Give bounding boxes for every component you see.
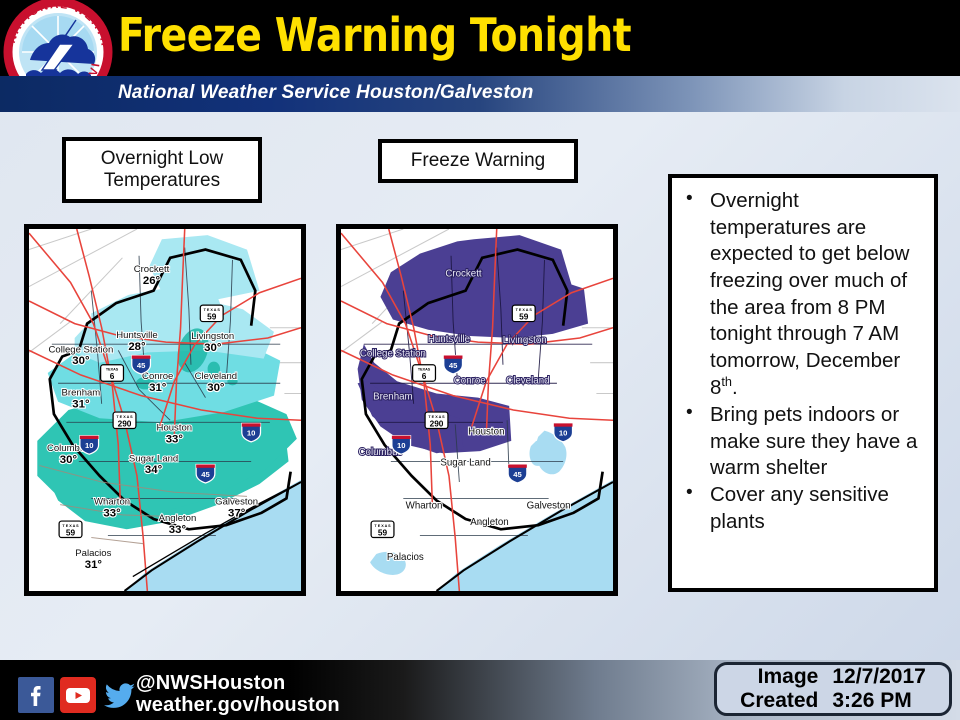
stamp-label-line1: Image [740,665,818,689]
left-map-caption-text: Overnight Low Temperatures [66,148,258,193]
highway-shield-59: T E X A S59 [59,521,82,537]
ordinal-suffix: th [721,374,732,389]
city-label-brenham: Brenham [373,392,413,403]
right-map-caption-text: Freeze Warning [411,150,545,172]
svg-text:30°: 30° [60,454,78,466]
svg-text:Cleveland: Cleveland [506,375,549,386]
highway-shield-10: 10 [554,423,573,442]
city-label-angleton: Angleton [470,517,508,528]
website-url: weather.gov/houston [136,694,340,716]
svg-text:Huntsville: Huntsville [428,334,470,345]
youtube-icon[interactable] [60,677,96,713]
svg-text:Cleveland: Cleveland [195,371,237,382]
svg-text:Angleton: Angleton [159,513,197,524]
city-label-conroe: Conroe [454,375,486,386]
svg-text:T E X A S: T E X A S [116,415,133,419]
svg-text:T E X A S: T E X A S [204,308,221,312]
highway-shield-45: 45 [444,355,463,374]
page-title: Freeze Warning Tonight [118,8,631,62]
city-label-galveston: Galveston [527,501,571,512]
highway-shield-59: T E X A S59 [200,305,223,321]
svg-text:10: 10 [559,429,568,438]
svg-text:10: 10 [85,441,94,450]
overnight-low-temperature-map[interactable]: Crockett26°Huntsville28°Livingston30°Col… [24,224,306,596]
svg-text:30°: 30° [204,342,222,354]
social-handle-block: @NWSHouston weather.gov/houston [136,672,340,717]
advisory-bullet-1: Overnight temperatures are expected to g… [702,188,922,402]
svg-text:Houston: Houston [468,427,504,438]
highway-shield-290: T E X A S290 [113,412,136,428]
city-label-wharton: Wharton [406,501,443,512]
city-label-sugar-land: Sugar Land [440,458,490,469]
city-label-houston: Houston [468,427,504,438]
svg-text:Conroe: Conroe [454,375,486,386]
svg-text:Angleton: Angleton [470,517,508,528]
advisory-bullet-2: Bring pets indoors or make sure they hav… [702,402,922,482]
svg-text:45: 45 [137,361,146,370]
highway-shield-290: T E X A S290 [425,412,448,428]
twitter-icon[interactable] [102,677,138,713]
svg-text:Houston: Houston [157,423,193,434]
highway-shield-59: T E X A S59 [371,521,394,537]
twitter-handle: @NWSHouston [136,672,340,694]
svg-text:10: 10 [397,441,406,450]
freeze-warning-map[interactable]: CrockettHuntsvilleLivingstonCollege Stat… [336,224,618,596]
facebook-icon[interactable] [18,677,54,713]
svg-text:College Station: College Station [49,344,114,355]
svg-text:Crockett: Crockett [134,264,170,275]
svg-text:30°: 30° [72,355,90,367]
svg-text:59: 59 [378,528,388,537]
svg-text:T E X A S: T E X A S [374,524,391,528]
svg-text:45: 45 [513,470,522,479]
svg-text:Sugar Land: Sugar Land [129,453,178,464]
city-label-huntsville: Huntsville [428,334,470,345]
svg-text:28°: 28° [128,341,146,353]
city-label-college-station: College Station [360,349,426,360]
svg-text:6: 6 [110,372,115,381]
highway-shield-59: T E X A S59 [512,305,535,321]
svg-text:33°: 33° [169,524,187,536]
svg-text:Brenham: Brenham [62,388,101,399]
svg-text:290: 290 [118,419,132,428]
svg-text:Livingston: Livingston [503,335,547,346]
svg-text:37°: 37° [228,507,246,519]
stamp-date: 12/7/2017 [832,665,925,689]
svg-text:59: 59 [519,313,529,322]
svg-text:Sugar Land: Sugar Land [440,458,490,469]
svg-text:6: 6 [422,372,427,381]
svg-text:59: 59 [66,528,76,537]
advisory-bullet-1-period: . [732,376,738,399]
stamp-label-line2: Created [740,689,818,713]
highway-shield-6: TEXAS6 [413,365,436,381]
svg-text:31°: 31° [149,382,167,394]
image-created-stamp: Image 12/7/2017 Created 3:26 PM [714,662,952,716]
svg-text:T E X A S: T E X A S [62,524,79,528]
advisory-bullet-1-text: Overnight temperatures are expected to g… [710,189,909,399]
highway-shield-45: 45 [508,465,527,484]
svg-text:33°: 33° [166,433,184,445]
city-label-livingston: Livingston [503,335,547,346]
highway-shield-10: 10 [242,423,261,442]
svg-text:31°: 31° [85,559,103,571]
highway-shield-6: TEXAS6 [101,365,124,381]
highway-shield-45: 45 [132,355,151,374]
advisory-bullet-list: Overnight temperatures are expected to g… [680,188,922,535]
svg-text:T E X A S: T E X A S [428,415,445,419]
city-label-crockett: Crockett [445,268,482,279]
highway-shield-45: 45 [196,465,215,484]
office-name: National Weather Service Houston/Galvest… [118,82,534,104]
city-label-cleveland: Cleveland [506,375,549,386]
svg-text:Conroe: Conroe [142,371,173,382]
svg-text:290: 290 [430,419,444,428]
svg-text:Livingston: Livingston [191,331,234,342]
advisory-info-box: Overnight temperatures are expected to g… [668,174,938,592]
svg-text:Huntsville: Huntsville [116,330,157,341]
svg-text:Crockett: Crockett [445,268,482,279]
svg-text:Galveston: Galveston [527,501,571,512]
svg-text:33°: 33° [103,507,121,519]
left-map-caption: Overnight Low Temperatures [62,137,262,203]
svg-text:Brenham: Brenham [373,392,413,403]
svg-text:30°: 30° [207,382,225,394]
svg-text:26°: 26° [143,275,161,287]
svg-text:TEXAS: TEXAS [418,368,431,372]
svg-text:Wharton: Wharton [406,501,443,512]
svg-text:10: 10 [247,429,256,438]
svg-text:Galveston: Galveston [215,497,258,508]
svg-text:Palacios: Palacios [75,548,111,559]
svg-text:59: 59 [207,313,217,322]
svg-text:34°: 34° [145,464,163,476]
highway-shield-10: 10 [80,436,99,455]
svg-text:45: 45 [449,361,458,370]
city-label-palacios: Palacios [387,552,424,563]
svg-text:Wharton: Wharton [94,497,130,508]
svg-text:31°: 31° [72,398,90,410]
advisory-bullet-3: Cover any sensitive plants [702,482,922,535]
svg-text:45: 45 [201,470,210,479]
stamp-time: 3:26 PM [832,689,925,713]
highway-shield-10: 10 [392,436,411,455]
svg-text:College Station: College Station [360,349,426,360]
svg-text:Palacios: Palacios [387,552,424,563]
svg-text:TEXAS: TEXAS [106,368,119,372]
svg-text:T E X A S: T E X A S [516,308,533,312]
right-map-caption: Freeze Warning [378,139,578,183]
